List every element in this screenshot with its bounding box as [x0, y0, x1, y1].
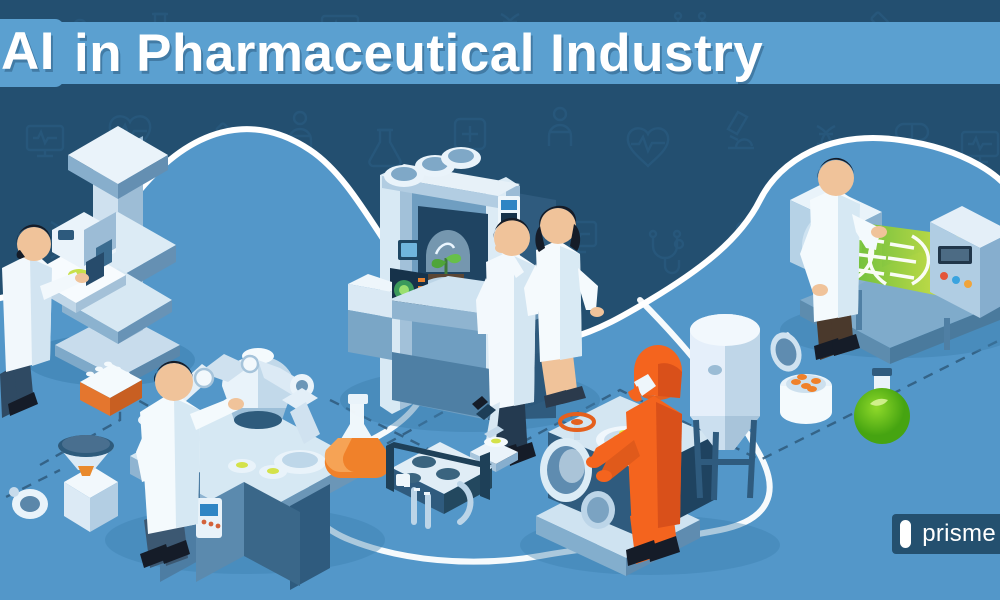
brand-logo[interactable]: prisme: [892, 514, 1000, 554]
page-title: AI in Pharmaceutical Industry: [0, 16, 1000, 90]
isometric-scene-artwork: [0, 0, 1000, 600]
green-flask: [854, 368, 910, 444]
logo-text: prisme: [922, 520, 996, 548]
silo-tank: [690, 314, 760, 500]
illustration-canvas: AI in Pharmaceutical Industry prisme: [0, 0, 1000, 600]
logo-bar-icon: [900, 520, 911, 548]
title-main-phrase: Pharmaceutical Industry: [136, 23, 763, 84]
scene-dna-scanner-station: [780, 158, 1000, 364]
scene-growth-chamber-station: [340, 147, 604, 468]
title-connector-word: in: [74, 23, 122, 84]
centrifuge: [9, 435, 118, 532]
title-ai-badge: AI: [0, 19, 64, 87]
